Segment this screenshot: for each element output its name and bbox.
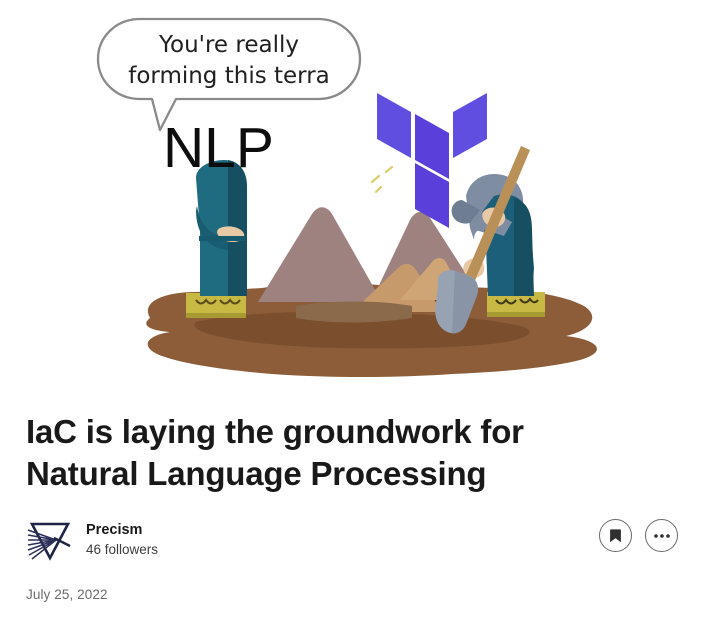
more-options-button[interactable] (645, 519, 678, 552)
left-figure-boot-sole (186, 313, 246, 318)
precism-logo-avatar (26, 516, 74, 564)
post-timestamp: July 25, 2022 (26, 587, 108, 602)
bookmark-icon (608, 528, 623, 544)
speech-bubble-line-1: You're really (158, 32, 299, 58)
post-card: NLP You're really forming this terra IaC… (0, 0, 704, 639)
post-headline: IaC is laying the groundwork for Natural… (26, 411, 586, 494)
post-byline[interactable]: Precism 46 followers (26, 515, 678, 565)
post-content: IaC is laying the groundwork for Natural… (0, 397, 704, 565)
save-post-button[interactable] (599, 519, 632, 552)
post-illustration: NLP You're really forming this terra (0, 0, 704, 397)
meme-illustration-svg: NLP You're really forming this terra (0, 0, 704, 397)
ellipsis-icon (653, 533, 671, 539)
ellipsis-dot-1 (654, 534, 658, 538)
left-figure-belt (199, 236, 246, 241)
right-figure-boot-sole (487, 312, 545, 317)
author-name: Precism (86, 521, 158, 541)
ellipsis-dot-2 (660, 534, 664, 538)
bookmark-icon-path (610, 529, 621, 542)
post-actions (599, 519, 678, 552)
byline-text: Precism 46 followers (86, 521, 158, 560)
ellipsis-dot-3 (666, 534, 670, 538)
follower-count: 46 followers (86, 541, 158, 559)
mound-base-shade (296, 302, 412, 323)
nlp-label: NLP (163, 116, 274, 180)
speech-bubble-line-2: forming this terra (128, 63, 330, 89)
